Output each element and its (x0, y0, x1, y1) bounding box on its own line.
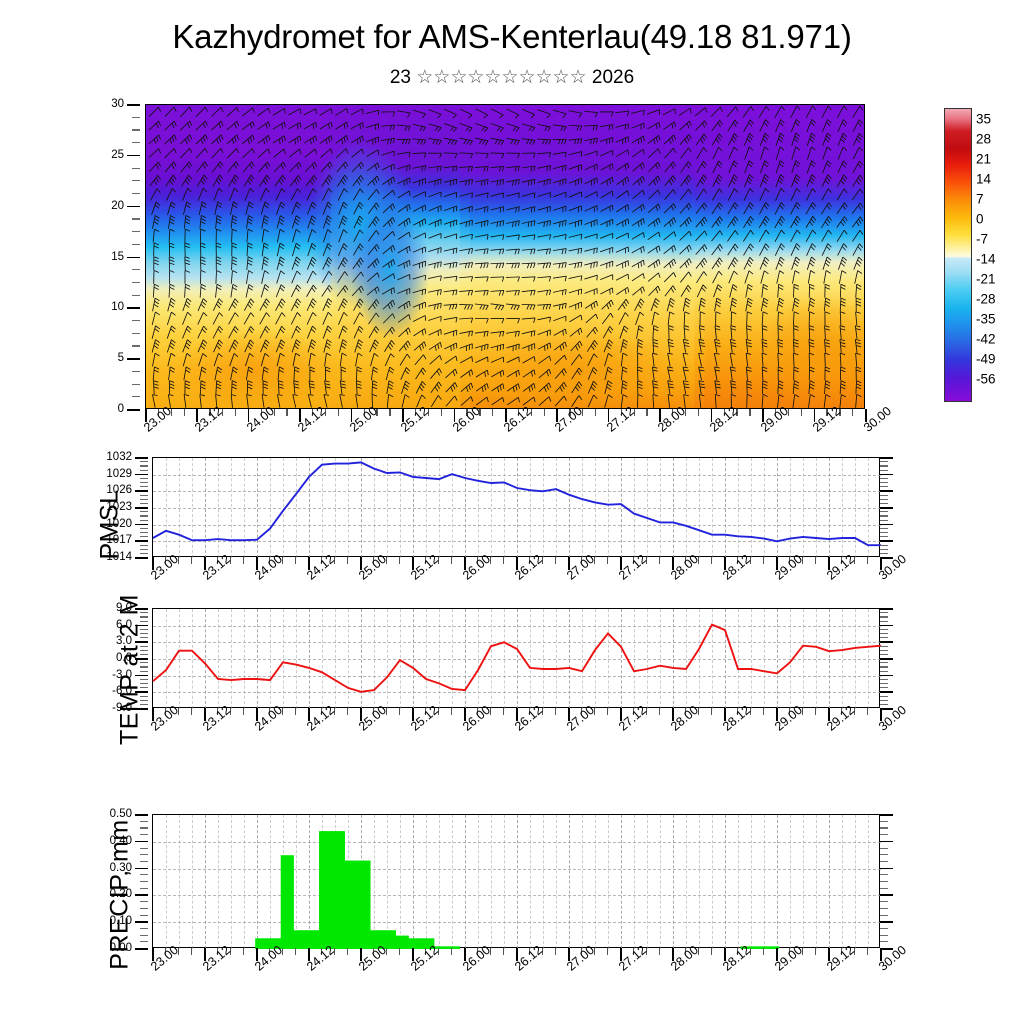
y-minor-tick (880, 874, 888, 875)
y-tick-label: 0.20 (110, 888, 132, 900)
wind-barb (711, 107, 722, 117)
wind-barb (231, 215, 237, 228)
wind-barb (747, 312, 752, 325)
wind-barb (841, 367, 846, 380)
wind-barb (569, 125, 582, 130)
wind-barb (444, 330, 457, 336)
precip-bar (345, 861, 358, 949)
wind-barb (459, 290, 472, 295)
wind-barb (353, 189, 363, 201)
wind-barb (153, 284, 159, 297)
wind-barb (413, 192, 425, 198)
wind-barb (339, 216, 347, 229)
wind-barb (537, 290, 550, 296)
wind-barb (728, 203, 738, 215)
wind-barb (291, 189, 301, 201)
wind-barb (273, 108, 285, 115)
wind-barb (198, 340, 207, 352)
wind-barb (152, 326, 160, 339)
wind-barb (258, 108, 270, 116)
wind-barb (696, 272, 706, 283)
wind-barb (506, 235, 519, 240)
wind-barb (184, 215, 190, 228)
wind-barb (278, 381, 283, 394)
wind-barb (616, 247, 629, 253)
wind-barb (354, 202, 363, 214)
wind-barb (383, 231, 395, 240)
y-major-tick (135, 708, 148, 710)
wind-barb (600, 288, 612, 295)
wind-barb (728, 133, 737, 145)
x-minor-tick (801, 409, 802, 416)
wind-barb (382, 288, 394, 295)
y-minor-tick (880, 612, 888, 613)
wind-barb (648, 232, 660, 240)
y-tick-label: 3.0 (116, 635, 132, 647)
wind-barb (762, 312, 767, 325)
wind-barb (368, 299, 379, 310)
wind-barb (413, 247, 426, 253)
wind-barb (168, 202, 176, 215)
colorbar-tick-label: 28 (976, 132, 991, 147)
wind-barb (538, 343, 550, 351)
wind-barb (355, 340, 363, 353)
wind-barb (459, 179, 472, 185)
wind-barb (760, 161, 768, 174)
page-title: Kazhydromet for AMS-Kenterlau(49.18 81.9… (0, 18, 1024, 56)
wind-barb (601, 205, 613, 212)
precip-y-axis-right (880, 814, 898, 948)
wind-barb (715, 298, 722, 311)
x-minor-tick (286, 409, 287, 416)
y-minor-tick (880, 861, 888, 862)
wind-barb (712, 189, 722, 201)
wind-barb (537, 235, 550, 240)
wind-barb (555, 355, 567, 364)
wind-barb (416, 381, 425, 393)
wind-barb (273, 136, 285, 144)
wind-barb (793, 312, 798, 325)
y-minor-tick (880, 827, 888, 828)
wind-barb (368, 189, 379, 199)
wind-barb (794, 367, 799, 380)
y-minor-tick (132, 333, 140, 334)
wind-barb (384, 327, 395, 337)
wind-barb (416, 368, 426, 379)
wind-barb (153, 229, 159, 242)
wind-barb (855, 271, 862, 284)
wind-barb (149, 162, 160, 172)
wind-barb (746, 353, 751, 366)
wind-barb (199, 202, 206, 215)
x-minor-tick (295, 557, 296, 564)
wind-barb (336, 149, 348, 158)
wind-barb (807, 161, 815, 174)
wind-barb (822, 230, 832, 242)
wind-barb (539, 356, 551, 364)
wind-barb (292, 257, 300, 270)
wind-barb (600, 150, 612, 156)
wind-barb (475, 277, 488, 282)
wind-barb (213, 299, 222, 311)
x-minor-tick (441, 409, 442, 416)
wind-barb (571, 354, 582, 365)
wind-barb (680, 134, 691, 144)
wind-barb (602, 300, 614, 309)
wind-barb (216, 284, 222, 297)
y-minor-tick (140, 511, 148, 512)
y-major-tick (127, 307, 140, 309)
wind-barb (198, 326, 207, 338)
wind-barb (491, 304, 504, 310)
wind-barb (587, 327, 598, 337)
wind-barb (838, 257, 846, 270)
wind-barb (648, 135, 660, 144)
wind-barb (715, 381, 721, 394)
wind-barb (413, 219, 425, 227)
y-minor-tick (140, 470, 148, 471)
y-major-tick (880, 841, 893, 843)
wind-barb (339, 326, 348, 339)
wind-barb (522, 109, 534, 118)
wind-barb (247, 394, 252, 407)
precip-panel[interactable] (152, 814, 880, 948)
wind-barb (475, 138, 488, 145)
y-tick-label: 1032 (106, 451, 132, 463)
wind-barb (245, 340, 254, 352)
wind-barb (386, 367, 394, 380)
wind-barb (196, 107, 207, 117)
wind-barb (277, 243, 284, 256)
wind-barb (730, 284, 737, 297)
wind-barb (183, 298, 191, 311)
y-minor-tick (140, 637, 148, 638)
pmsl-y-axis-right (880, 457, 898, 557)
wind-barb (523, 370, 535, 378)
wind-barb (653, 394, 658, 407)
wind-barb (185, 381, 190, 394)
y-minor-tick (140, 520, 148, 521)
wind-barb (444, 317, 457, 322)
wind-barb (856, 353, 861, 366)
y-minor-tick (132, 345, 140, 346)
wind-barb (601, 177, 613, 185)
wind-barb (636, 312, 644, 325)
wind-barb (507, 357, 520, 363)
wind-barb (262, 229, 268, 242)
wind-barb (413, 124, 426, 131)
x-minor-tick (243, 708, 244, 715)
wind-barb (372, 381, 377, 394)
y-tick-label: 15 (111, 251, 124, 263)
wind-barb (714, 353, 719, 366)
wind-barb (699, 353, 704, 366)
x-minor-tick (815, 948, 816, 955)
x-minor-tick (607, 708, 608, 715)
wind-barb (339, 202, 348, 215)
wind-barb (506, 124, 519, 132)
temperature-colorbar[interactable] (944, 108, 972, 402)
wind-barb (414, 329, 426, 336)
wind-barb (398, 204, 410, 212)
wind-barb (746, 339, 752, 352)
wind-barb (668, 394, 673, 407)
wind-barb (475, 153, 488, 158)
y-minor-tick (140, 461, 148, 462)
wind-barb (382, 259, 394, 268)
wind-barb (325, 353, 331, 366)
wind-barb (428, 303, 441, 309)
wind-barb (242, 108, 254, 116)
wind-barb (166, 175, 176, 186)
wind-barb (730, 367, 735, 380)
precip-bar (396, 936, 409, 949)
wind-barb (537, 277, 550, 282)
wind-barb (185, 243, 190, 256)
y-minor-tick (140, 482, 148, 483)
wind-barb (263, 381, 268, 394)
wind-barb (413, 233, 425, 239)
wind-barb (227, 121, 239, 130)
wind-barb (382, 164, 394, 171)
wind-barb (309, 353, 316, 366)
wind-barb (490, 153, 503, 158)
wind-barb (809, 339, 814, 352)
wind-barb (459, 318, 472, 323)
wind-barb (383, 190, 395, 199)
x-minor-tick (191, 708, 192, 715)
wind-barb (570, 328, 582, 336)
wind-barb (852, 189, 863, 200)
cross-section-panel[interactable] (145, 104, 865, 409)
y-minor-tick (140, 696, 148, 697)
wind-barb (728, 120, 738, 131)
y-minor-tick (880, 662, 888, 663)
colorbar-tick-label: -56 (976, 372, 996, 387)
wind-barb (681, 161, 691, 172)
y-minor-tick (880, 461, 888, 462)
wind-barb (429, 206, 441, 212)
colorbar-tick-label: 35 (976, 112, 991, 127)
wind-barb (852, 230, 862, 241)
wind-barb (428, 262, 441, 269)
wind-barb (322, 271, 332, 283)
y-minor-tick (132, 193, 140, 194)
wind-barb (729, 271, 738, 283)
x-minor-tick (347, 708, 348, 715)
wind-barb (444, 166, 457, 171)
wind-barb (569, 139, 582, 145)
wind-barb (431, 395, 441, 406)
y-tick-label: -6.0 (112, 685, 132, 697)
wind-barb (274, 162, 285, 172)
wind-barb (822, 189, 832, 201)
wind-barb (397, 178, 409, 186)
y-minor-tick (880, 848, 888, 849)
wind-barb (584, 248, 597, 254)
wind-barb (276, 299, 286, 311)
wind-barb (729, 175, 738, 187)
wind-barb (852, 203, 863, 214)
wind-barb (619, 313, 629, 325)
y-major-tick (135, 457, 148, 459)
wind-barb (321, 162, 332, 172)
wind-barb (728, 216, 738, 227)
wind-barb (522, 344, 535, 351)
wind-barb (413, 261, 426, 268)
y-tick-label: -3.0 (112, 669, 132, 681)
wind-barb (823, 257, 831, 270)
wind-barb (506, 166, 519, 171)
wind-barb (444, 290, 457, 295)
wind-barb (648, 218, 660, 227)
wind-barb (229, 340, 238, 352)
wind-barb (491, 207, 504, 213)
x-minor-tick (659, 948, 660, 955)
y-major-tick (135, 625, 148, 627)
temp-panel[interactable] (152, 608, 880, 708)
wind-barb (169, 284, 174, 297)
wind-barb (168, 394, 173, 407)
wind-barb (588, 395, 597, 407)
wind-barb (587, 340, 597, 351)
wind-barb (292, 229, 300, 242)
wind-barb (444, 220, 457, 227)
x-minor-tick (399, 557, 400, 564)
y-minor-tick (880, 908, 888, 909)
wind-barb (461, 383, 473, 392)
y-major-tick (880, 457, 893, 459)
wind-barb (762, 284, 768, 297)
y-minor-tick (132, 384, 140, 385)
wind-barb (712, 231, 723, 242)
wind-barb (806, 189, 815, 201)
wind-barb (444, 138, 457, 145)
x-minor-tick (389, 409, 390, 416)
wind-barb (778, 312, 783, 325)
x-minor-tick (184, 409, 185, 416)
y-minor-tick (880, 650, 888, 651)
wind-barb (696, 121, 707, 131)
y-minor-tick (140, 495, 148, 496)
y-minor-tick (880, 486, 888, 487)
wind-barb (459, 248, 472, 254)
wind-barb (261, 353, 269, 366)
wind-barb (633, 163, 645, 172)
wind-barb (506, 304, 519, 310)
wind-barb (260, 299, 270, 311)
wind-barb (840, 326, 845, 339)
x-minor-tick (399, 948, 400, 955)
wind-barb (696, 258, 707, 269)
wind-barb (791, 230, 801, 242)
wind-barb (154, 257, 159, 270)
wind-barb (412, 153, 425, 158)
wind-barb (775, 244, 784, 256)
wind-barb (854, 257, 863, 270)
y-minor-tick (132, 282, 140, 283)
y-minor-tick (140, 915, 148, 916)
x-minor-tick (852, 409, 853, 416)
y-minor-tick (140, 874, 148, 875)
wind-barb (506, 263, 519, 268)
wind-barb (353, 244, 363, 256)
y-major-tick (135, 524, 148, 526)
wind-barb (806, 216, 816, 228)
wind-barb (490, 277, 503, 282)
y-tick-label: 1023 (106, 501, 132, 513)
wind-barb (196, 148, 207, 158)
y-major-tick (135, 474, 148, 476)
wind-barb (648, 204, 660, 213)
wind-barb (475, 166, 488, 171)
wind-barb (247, 215, 253, 228)
wind-barb (537, 166, 550, 172)
wind-barb (492, 397, 504, 405)
wind-barb (167, 312, 175, 325)
wind-barb (823, 133, 831, 146)
pmsl-y-axis: 1014101710201023102610291032 (100, 457, 148, 557)
wind-barb (696, 231, 707, 241)
wind-barb (616, 150, 628, 157)
wind-barb (665, 162, 676, 172)
x-minor-tick (451, 948, 452, 955)
wind-barb (600, 247, 613, 253)
wind-barb (387, 394, 393, 407)
wind-barb (522, 193, 535, 198)
colorbar-tick-label: -49 (976, 352, 996, 367)
wind-barb (665, 176, 676, 186)
wind-barb (476, 109, 488, 118)
wind-barb (791, 174, 800, 187)
wind-barb (794, 326, 799, 339)
wind-barb (555, 396, 566, 406)
wind-barb (294, 367, 299, 380)
y-minor-tick (880, 666, 888, 667)
wind-barb (538, 206, 551, 212)
wind-barb (475, 220, 488, 227)
wind-barb (837, 203, 847, 214)
wind-barb (401, 367, 410, 379)
wind-barb (431, 382, 442, 393)
wind-barb (430, 368, 441, 378)
wind-barb (713, 147, 722, 159)
wind-barb (603, 326, 613, 338)
y-tick-label: 20 (111, 200, 124, 212)
wind-barb (277, 271, 285, 284)
wind-barb (354, 313, 364, 325)
wind-barb (600, 233, 612, 238)
y-major-tick (880, 507, 893, 509)
wind-barb (728, 257, 738, 269)
wind-barb (744, 244, 754, 256)
wind-barb (840, 381, 845, 394)
wind-barb (429, 109, 442, 118)
wind-barb (325, 381, 331, 394)
pmsl-panel[interactable] (152, 457, 880, 557)
precip-bar (332, 831, 345, 949)
y-minor-tick (140, 935, 148, 936)
wind-barb (444, 304, 457, 309)
wind-barb (809, 381, 815, 394)
wind-barb (308, 243, 316, 256)
wind-barb (616, 233, 628, 239)
wind-barb (668, 381, 674, 394)
wind-barb (523, 383, 535, 392)
wind-barb (809, 312, 814, 325)
wind-barb (506, 153, 519, 158)
wind-barb (730, 298, 737, 311)
